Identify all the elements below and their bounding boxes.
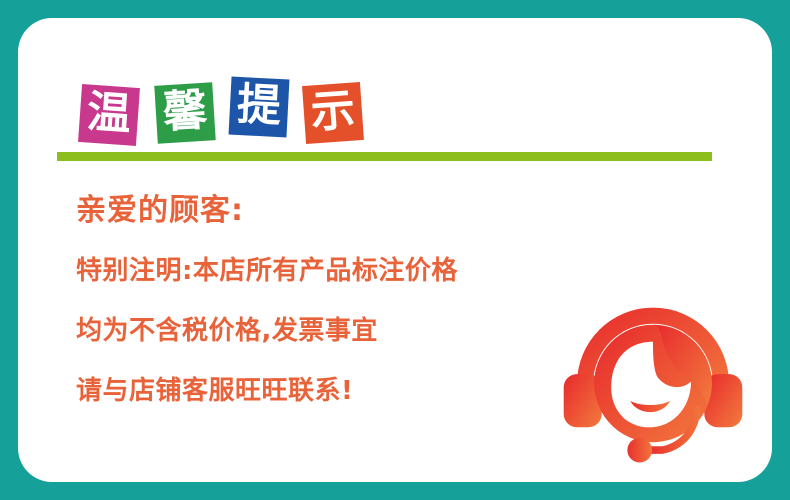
notice-banner: 温 馨 提 示 亲爱的顾客: 特别注明:本店所有产品标注价格 均为不含税价格,发… [0, 0, 790, 500]
notice-card: 温 馨 提 示 亲爱的顾客: 特别注明:本店所有产品标注价格 均为不含税价格,发… [18, 18, 772, 482]
green-divider [57, 152, 712, 161]
heading-tile-ti: 提 [229, 77, 290, 138]
heading-tile-ti-char: 提 [236, 83, 282, 129]
customer-service-headset-icon [558, 300, 748, 482]
heading-tile-xin: 馨 [154, 82, 215, 143]
heading-tile-shi-char: 示 [309, 89, 356, 136]
heading-tile-wen-char: 温 [86, 91, 133, 138]
notice-line-2: 均为不含税价格,发票事宜 [76, 318, 546, 344]
heading-tile-shi: 示 [302, 82, 364, 144]
notice-text-block: 亲爱的顾客: 特别注明:本店所有产品标注价格 均为不含税价格,发票事宜 请与店铺… [76, 196, 546, 404]
heading-tile-xin-char: 馨 [162, 89, 209, 136]
notice-line-3: 请与店铺客服旺旺联系! [76, 378, 546, 404]
heading-tiles: 温 馨 提 示 [76, 74, 376, 160]
salutation-text: 亲爱的顾客: [76, 196, 546, 226]
notice-line-1: 特别注明:本店所有产品标注价格 [76, 258, 546, 284]
heading-tile-wen: 温 [78, 84, 140, 146]
